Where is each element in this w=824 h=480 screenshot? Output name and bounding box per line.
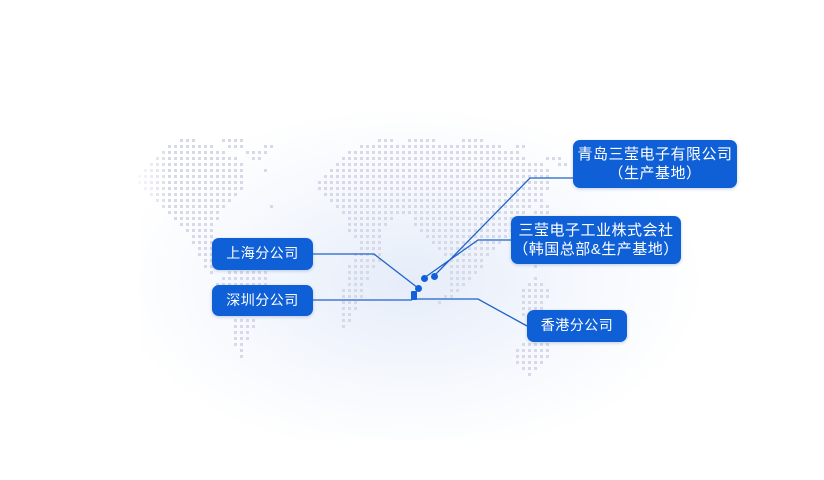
marker-korea[interactable] xyxy=(421,275,428,282)
connector-hongkong xyxy=(416,299,527,326)
label-shenzhen-line1: 深圳分公司 xyxy=(226,292,299,310)
label-korea-line1: 三莹电子工业株式会社 xyxy=(518,221,673,240)
label-hongkong-line1: 香港分公司 xyxy=(541,317,614,335)
label-hongkong[interactable]: 香港分公司 xyxy=(527,310,627,342)
label-shanghai-line1: 上海分公司 xyxy=(226,245,299,263)
marker-shenzhen[interactable] xyxy=(411,291,417,300)
connector-korea xyxy=(424,240,511,278)
label-korea-line2: （韩国总部&生产基地） xyxy=(513,240,679,259)
label-qingdao-line1: 青岛三莹电子有限公司 xyxy=(577,145,732,164)
label-qingdao[interactable]: 青岛三莹电子有限公司 （生产基地） xyxy=(573,140,737,188)
map-infographic: 青岛三莹电子有限公司 （生产基地） 三莹电子工业株式会社 （韩国总部&生产基地）… xyxy=(0,0,824,480)
label-shenzhen[interactable]: 深圳分公司 xyxy=(212,285,313,316)
connector-shanghai xyxy=(313,254,418,288)
connector-lines xyxy=(0,0,824,480)
world-map xyxy=(0,0,824,480)
marker-qingdao[interactable] xyxy=(431,273,438,280)
label-qingdao-line2: （生产基地） xyxy=(608,164,701,183)
label-shanghai[interactable]: 上海分公司 xyxy=(212,238,313,270)
label-korea[interactable]: 三莹电子工业株式会社 （韩国总部&生产基地） xyxy=(511,216,681,264)
